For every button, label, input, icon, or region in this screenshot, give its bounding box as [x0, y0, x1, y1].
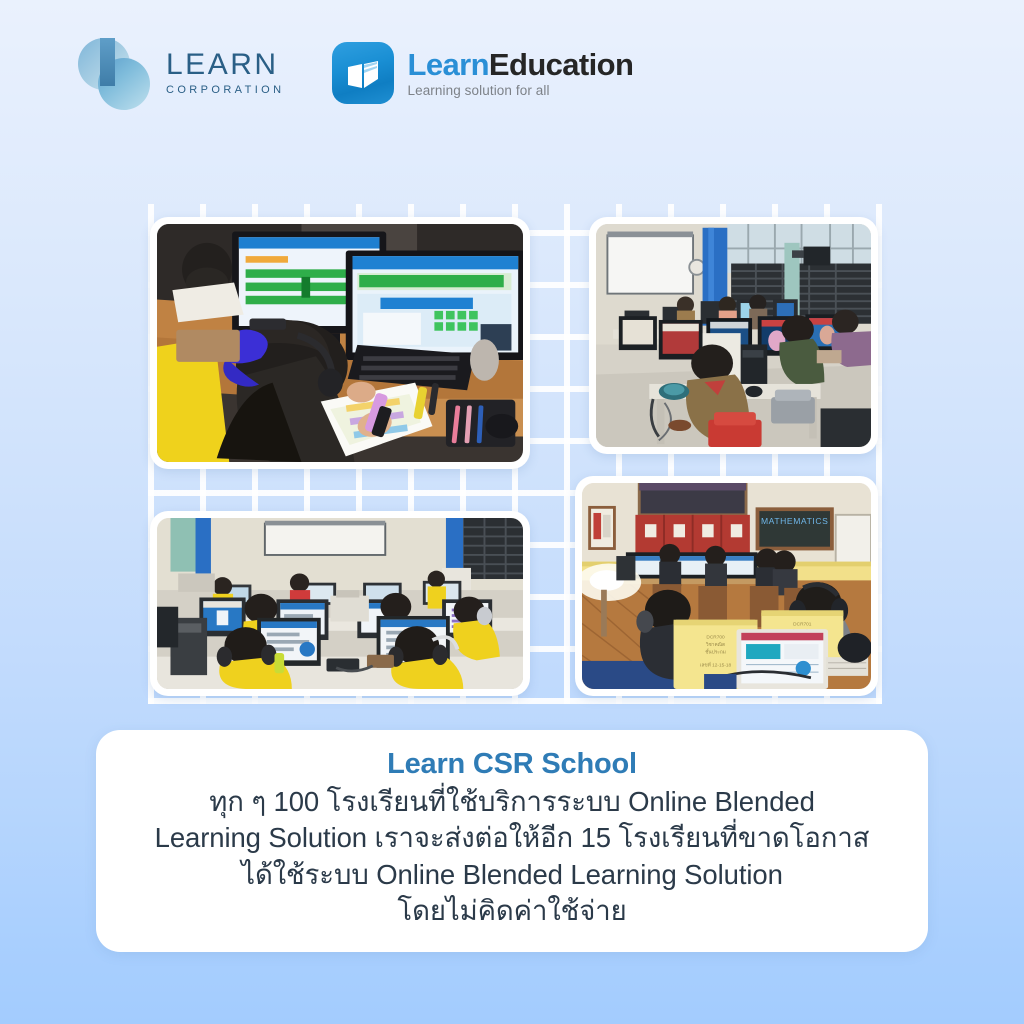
wordmark-learn: Learn	[407, 47, 488, 82]
caption-body-line-3: ได้ใช้ระบบ Online Blended Learning Solut…	[155, 857, 870, 893]
svg-text:DCR700: DCR700	[706, 634, 725, 640]
poster-canvas: LEARN CORPORATION LearnEducation Learnin…	[0, 0, 1024, 1024]
caption-body-line-4: โดยไม่คิดค่าใช้จ่าย	[155, 893, 870, 929]
caption-body-line-2: Learning Solution เราจะส่งต่อให้อีก 15 โ…	[155, 820, 870, 856]
logo-learn-corporation: LEARN CORPORATION	[78, 36, 284, 110]
caption-title: Learn CSR School	[387, 748, 637, 781]
caption-body: ทุก ๆ 100 โรงเรียนที่ใช้บริการระบบ Onlin…	[155, 784, 870, 929]
caption-card: Learn CSR School ทุก ๆ 100 โรงเรียนที่ใช…	[96, 730, 928, 952]
wordmark-education: Education	[489, 47, 633, 82]
logo-learn-education: LearnEducation Learning solution for all	[332, 42, 633, 104]
open-book-icon	[332, 42, 394, 104]
photo-student-at-desktop-computer-with-headset	[157, 224, 523, 462]
photo-card-mathematics-classroom-computer-lab: MATHEMATICS	[575, 476, 878, 696]
svg-text:DCR701: DCR701	[793, 621, 812, 627]
learn-corp-wordmark: LEARN	[166, 50, 284, 80]
photo-card-student-at-desktop-computer-with-headset	[150, 217, 530, 469]
photo-students-in-yellow-shirts-with-laptops	[157, 518, 523, 689]
learn-education-tagline: Learning solution for all	[407, 84, 633, 98]
learn-education-wordmark: LearnEducation	[407, 49, 633, 80]
caption-body-line-1: ทุก ๆ 100 โรงเรียนที่ใช้บริการระบบ Onlin…	[155, 784, 870, 820]
photo-computer-lab-with-projector-screen	[596, 224, 871, 447]
svg-text:MATHEMATICS: MATHEMATICS	[761, 516, 828, 526]
photo-card-computer-lab-with-projector-screen	[589, 217, 878, 454]
svg-text:วิชาคณิต: วิชาคณิต	[706, 642, 726, 648]
learn-corp-subtitle: CORPORATION	[166, 85, 284, 96]
logo-bar: LEARN CORPORATION LearnEducation Learnin…	[78, 36, 633, 110]
photo-mathematics-classroom-computer-lab: MATHEMATICS	[582, 483, 871, 689]
two-overlapping-circles-mark-icon	[78, 36, 152, 110]
photo-card-students-in-yellow-shirts-with-laptops	[150, 511, 530, 696]
